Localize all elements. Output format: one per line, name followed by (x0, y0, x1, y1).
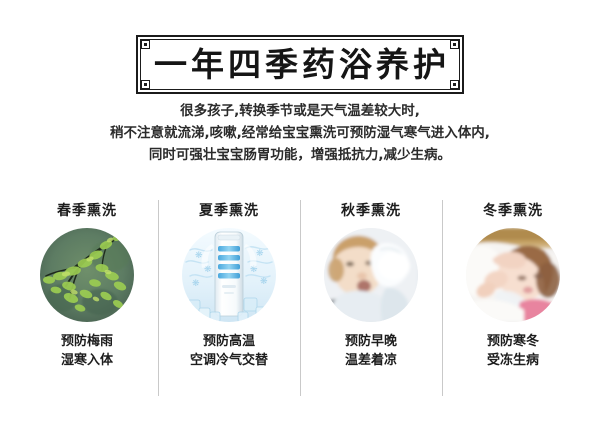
season-column-list: 春季熏洗 (16, 196, 584, 396)
intro-line-3: 同时可强壮宝宝肠胃功能，增强抵抗力,减少生病。 (0, 144, 600, 166)
page-title: 一年四季药浴养护 (136, 35, 464, 94)
summer-air-conditioner-photo: ❋❋ ❋❋ ❋❋ (182, 228, 276, 322)
season-caption-autumn-line-2: 温差着凉 (345, 351, 397, 370)
title-frame: 一年四季药浴养护 (136, 35, 464, 94)
svg-text:❋: ❋ (192, 279, 200, 289)
svg-text:❋: ❋ (260, 277, 268, 287)
spring-green-leaves-photo (40, 228, 134, 322)
season-title-winter: 冬季熏洗 (483, 200, 543, 220)
season-caption-winter-line-1: 预防寒冬 (487, 332, 539, 351)
intro-line-1: 很多孩子,转换季节或是天气温差较大时, (0, 100, 600, 122)
intro-paragraph: 很多孩子,转换季节或是天气温差较大时, 稍不注意就流涕,咳嗽,经常给宝宝熏洗可预… (0, 100, 600, 166)
autumn-child-sneezing-photo (324, 228, 418, 322)
season-title-autumn: 秋季熏洗 (341, 200, 401, 220)
season-caption-winter: 预防寒冬 受冻生病 (487, 332, 539, 370)
season-caption-spring-line-2: 湿寒入体 (61, 351, 113, 370)
season-column-winter: 冬季熏洗 (442, 196, 584, 396)
season-caption-spring-line-1: 预防梅雨 (61, 332, 113, 351)
winter-sick-child-in-bed-photo (466, 228, 560, 322)
season-caption-summer: 预防高温 空调冷气交替 (190, 332, 268, 370)
season-column-summer: 夏季熏洗 (158, 196, 300, 396)
intro-line-2: 稍不注意就流涕,咳嗽,经常给宝宝熏洗可预防湿气寒气进入体内, (0, 122, 600, 144)
season-column-spring: 春季熏洗 (16, 196, 158, 396)
season-title-spring: 春季熏洗 (57, 200, 117, 220)
season-title-summer: 夏季熏洗 (199, 200, 259, 220)
season-caption-summer-line-1: 预防高温 (190, 332, 268, 351)
season-caption-autumn: 预防早晚 温差着凉 (345, 332, 397, 370)
season-caption-spring: 预防梅雨 湿寒入体 (61, 332, 113, 370)
season-caption-winter-line-2: 受冻生病 (487, 351, 539, 370)
svg-text:❋: ❋ (256, 249, 264, 259)
season-column-autumn: 秋季熏洗 (300, 196, 442, 396)
season-caption-summer-line-2: 空调冷气交替 (190, 351, 268, 370)
season-caption-autumn-line-1: 预防早晚 (345, 332, 397, 351)
